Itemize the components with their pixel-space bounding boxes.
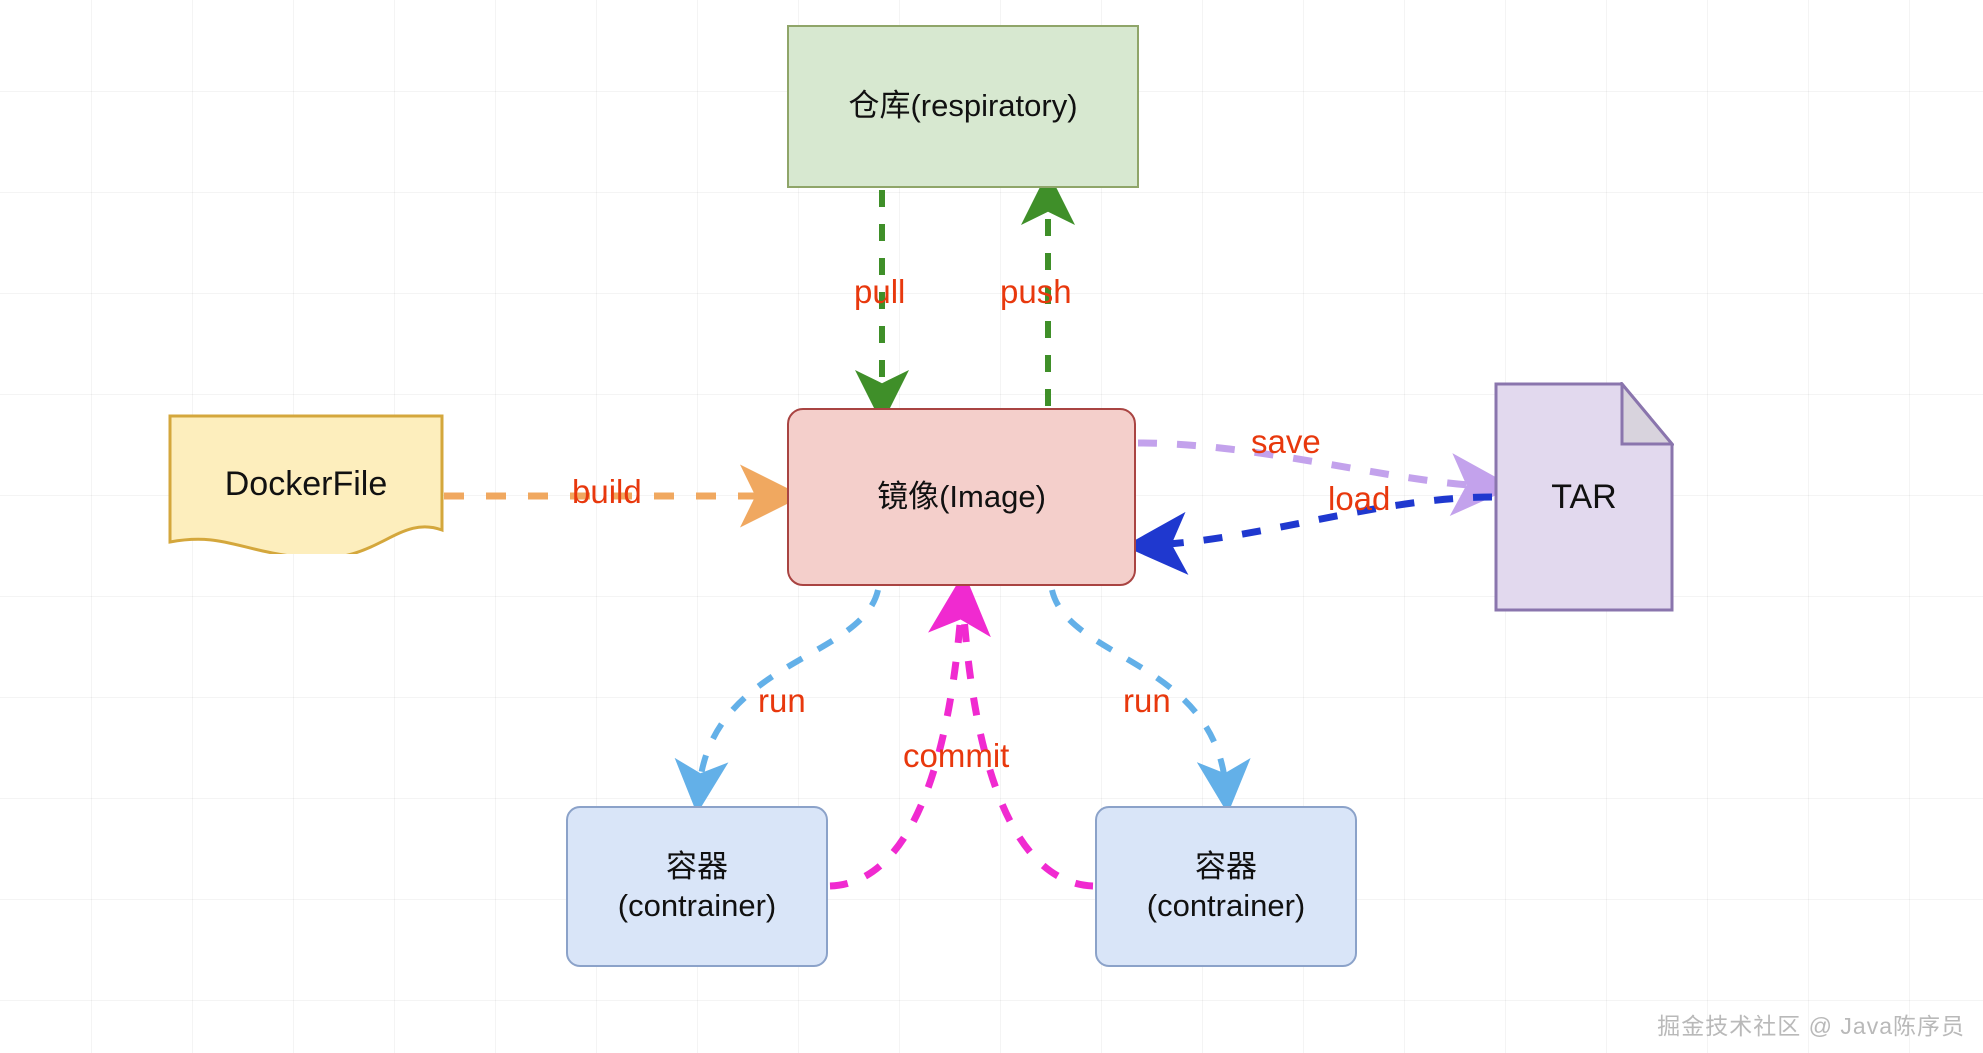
edge-load xyxy=(1152,497,1492,545)
node-container-left-label-line2: (contrainer) xyxy=(618,887,777,926)
node-container-right-label-line2: (contrainer) xyxy=(1147,887,1306,926)
edge-label-push: push xyxy=(1000,273,1072,311)
node-image-label: 镜像(Image) xyxy=(877,478,1046,517)
node-dockerfile[interactable]: DockerFile xyxy=(168,414,444,554)
edge-label-commit: commit xyxy=(903,737,1009,775)
node-dockerfile-label: DockerFile xyxy=(225,463,387,506)
edge-label-load: load xyxy=(1328,480,1390,518)
edge-label-save: save xyxy=(1251,423,1321,461)
node-container-left-label-line1: 容器 xyxy=(666,848,728,887)
watermark-text: 掘金技术社区 @ Java陈序员 xyxy=(1657,1007,1965,1041)
edge-label-run-right: run xyxy=(1123,682,1171,720)
node-repository-label: 仓库(respiratory) xyxy=(848,87,1077,126)
diagram-canvas: 仓库(respiratory) 镜像(Image) DockerFile TAR… xyxy=(0,0,1983,1053)
node-container-right[interactable]: 容器 (contrainer) xyxy=(1095,806,1357,967)
node-tar-label: TAR xyxy=(1551,476,1616,519)
edge-label-build: build xyxy=(572,473,642,511)
node-container-right-label-line1: 容器 xyxy=(1195,848,1257,887)
edge-label-run-left: run xyxy=(758,682,806,720)
node-repository[interactable]: 仓库(respiratory) xyxy=(787,25,1139,188)
node-image[interactable]: 镜像(Image) xyxy=(787,408,1136,586)
node-tar[interactable]: TAR xyxy=(1494,382,1674,612)
node-container-left[interactable]: 容器 (contrainer) xyxy=(566,806,828,967)
edge-label-pull: pull xyxy=(854,273,905,311)
